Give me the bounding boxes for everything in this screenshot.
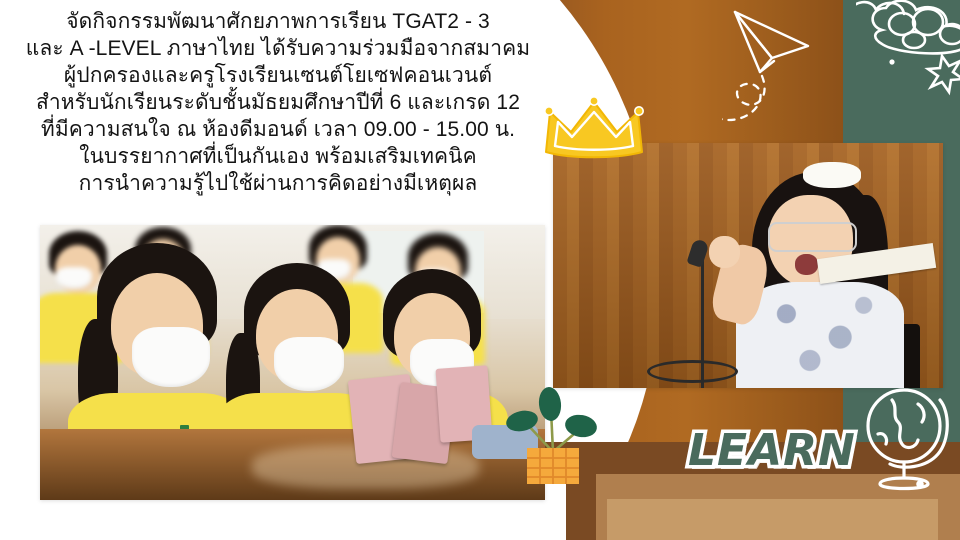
headline-text: จัดกิจกรรมพัฒนาศักยภาพการเรียน TGAT2 - 3… bbox=[8, 8, 548, 197]
desk-front-inner bbox=[600, 492, 945, 540]
photo-bag bbox=[472, 425, 538, 459]
speaker-dress bbox=[736, 282, 904, 388]
speaker-mouth bbox=[795, 254, 818, 275]
desk-top-bar bbox=[510, 442, 960, 474]
speaker-hair-bow bbox=[803, 162, 862, 187]
photo-students-in-classroom bbox=[40, 225, 545, 500]
speaker-hand bbox=[709, 236, 740, 268]
speaker-glasses bbox=[768, 222, 858, 251]
microphone-base bbox=[647, 360, 739, 383]
slide-canvas: LEARN bbox=[0, 0, 960, 540]
photo-speaker-at-microphone bbox=[553, 143, 943, 388]
